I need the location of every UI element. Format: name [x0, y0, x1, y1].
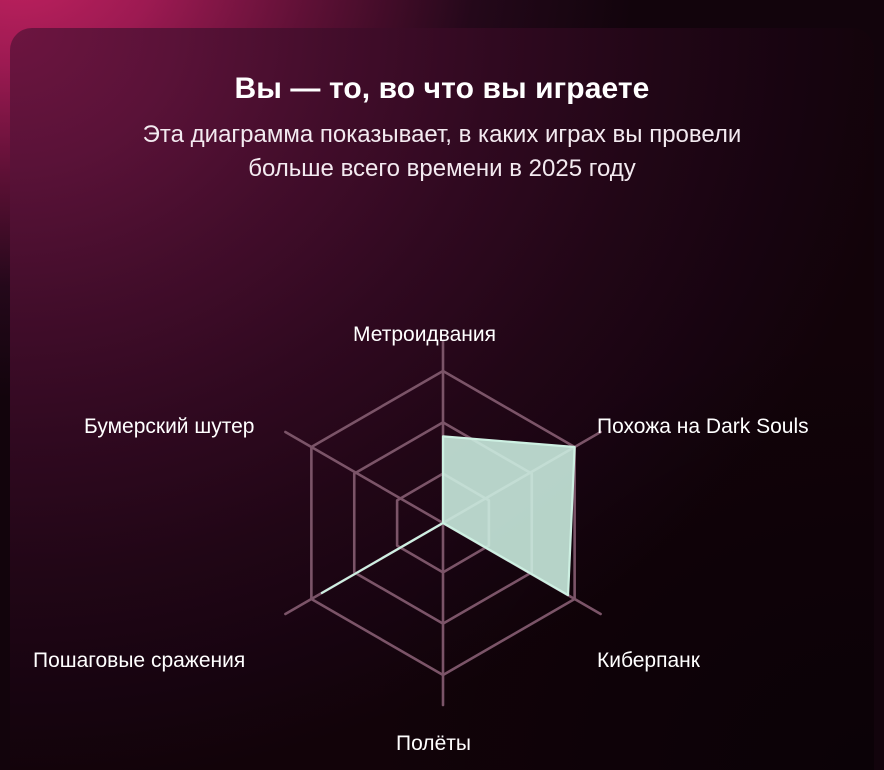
poster-root: Вы — то, во что вы играете Эта диаграмма… — [0, 0, 884, 770]
radar-series-polygon — [322, 436, 575, 595]
poster-header: Вы — то, во что вы играете Эта диаграмма… — [10, 28, 874, 186]
axis-label-flight: Полёты — [396, 733, 471, 754]
axis-label-boomer-shooter: Бумерский шутер — [84, 416, 254, 437]
page-title: Вы — то, во что вы играете — [10, 28, 874, 107]
axis-label-turn-based: Пошаговые сражения — [33, 650, 245, 671]
axis-label-cyberpunk: Киберпанк — [597, 650, 700, 671]
spoke-boomer-shooter — [285, 432, 443, 523]
page-subtitle: Эта диаграмма показывает, в каких играх … — [132, 107, 752, 186]
axis-label-metroidvania: Метроидвания — [353, 324, 496, 345]
poster-card: Вы — то, во что вы играете Эта диаграмма… — [10, 28, 874, 770]
axis-label-dark-souls: Похожа на Dark Souls — [597, 416, 809, 437]
